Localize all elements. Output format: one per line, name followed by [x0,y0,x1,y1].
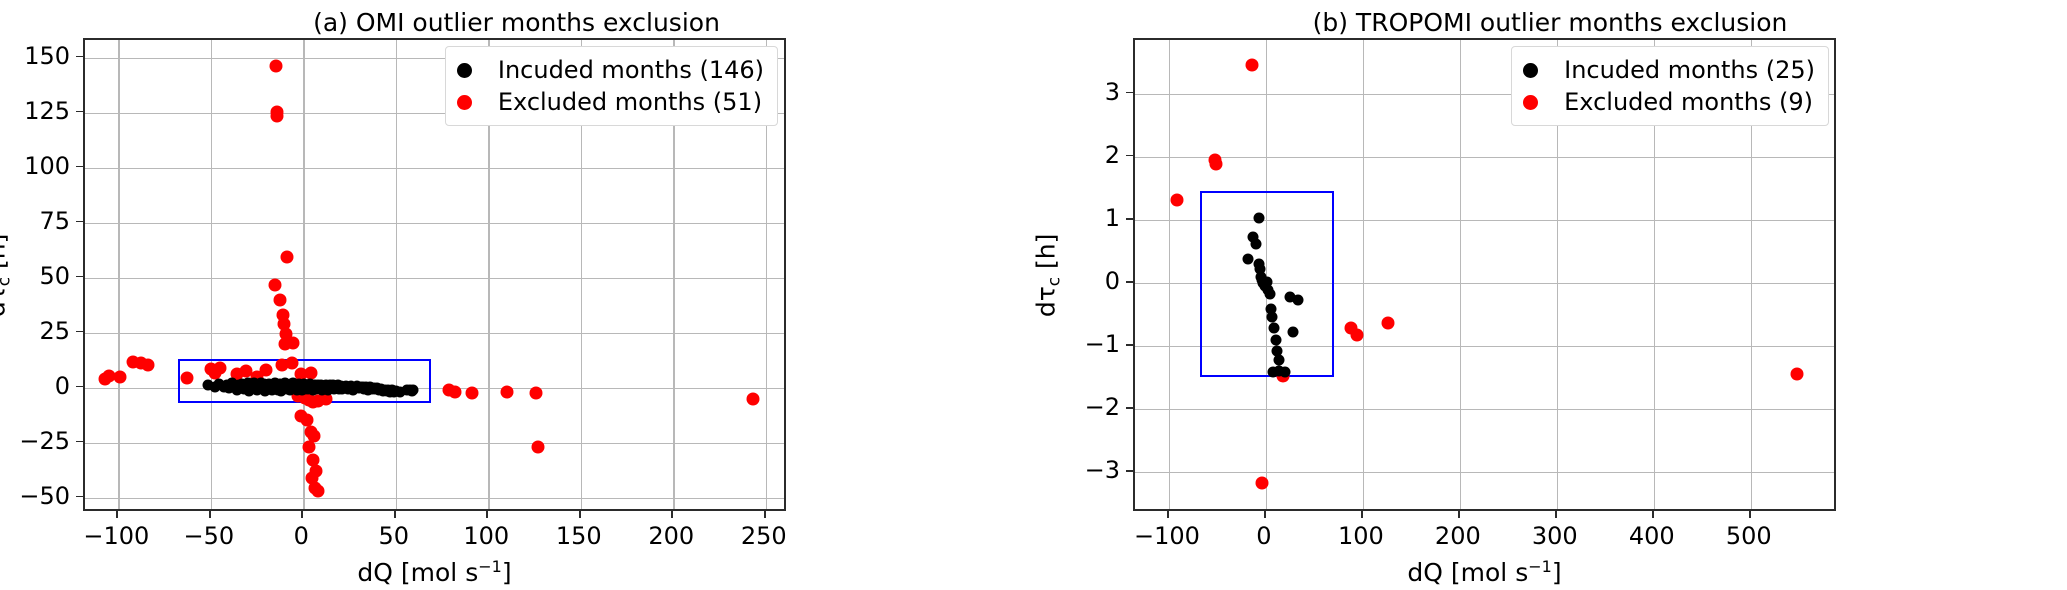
y-tickmark [76,166,83,168]
data-point-excluded [1246,59,1259,72]
legend-label: Excluded months (9) [1564,88,1813,116]
data-point-excluded [1791,368,1804,381]
x-tickmark [1555,511,1557,518]
y-tickmark [76,331,83,333]
y-tick-label: 150 [0,42,70,70]
data-point-excluded [274,293,287,306]
data-point-excluded [500,386,513,399]
x-tickmark [1264,511,1266,518]
data-point-included [1288,326,1299,337]
x-tickmark [209,511,211,518]
data-point-included [1264,289,1275,300]
data-point-excluded [530,387,543,400]
x-tick-label: −100 [1134,522,1200,550]
x-tickmark [394,511,396,518]
x-tick-label: 400 [1629,522,1675,550]
y-tickmark [1126,281,1133,283]
y-tick-label: 3 [1038,78,1120,106]
y-tickmark [1126,92,1133,94]
x-tick-label: 150 [556,522,602,550]
x-tick-label: 250 [741,522,787,550]
data-point-included [1280,367,1291,378]
x-tickmark [579,511,581,518]
gridline-horizontal [85,498,784,499]
panel-a-legend[interactable]: Incuded months (146)Excluded months (51) [445,46,778,126]
x-tick-label: −100 [83,522,149,550]
data-point-excluded [269,60,282,73]
data-point-excluded [268,279,281,292]
legend-row[interactable]: Incuded months (25) [1523,54,1815,86]
x-tick-label: 500 [1726,522,1772,550]
x-tick-label: −50 [183,522,234,550]
y-tick-label: 125 [0,97,70,125]
data-point-included [1292,295,1303,306]
panel-omi: (a) OMI outlier months exclusion −100−50… [0,0,1033,590]
legend-label: Incuded months (25) [1564,56,1815,84]
legend-marker-excluded-icon [457,95,472,110]
x-tick-label: 300 [1532,522,1578,550]
gridline-horizontal [1135,409,1834,410]
data-point-excluded [746,392,759,405]
x-tickmark [116,511,118,518]
data-point-excluded [1382,316,1395,329]
data-point-excluded [449,386,462,399]
y-tick-label: −50 [0,482,70,510]
legend-marker-included-icon [457,63,472,78]
y-tickmark [76,56,83,58]
legend-marker-included-icon [1523,63,1538,78]
y-tickmark [76,111,83,113]
data-point-excluded [465,387,478,400]
x-tick-label: 100 [463,522,509,550]
data-point-excluded [271,109,284,122]
y-tickmark [1126,407,1133,409]
gridline-horizontal [85,278,784,279]
x-tick-label: 0 [1256,522,1271,550]
legend-label: Excluded months (51) [498,88,762,116]
data-point-included [408,385,419,396]
y-tickmark [76,276,83,278]
data-point-excluded [312,485,325,498]
legend-label: Incuded months (146) [498,56,764,84]
panel-b-legend[interactable]: Incuded months (25)Excluded months (9) [1511,46,1829,126]
y-tickmark [1126,344,1133,346]
panel-a-ylabel: dτc [h] [0,185,14,365]
y-tickmark [76,496,83,498]
y-tick-label: −25 [0,427,70,455]
x-tickmark [301,511,303,518]
gridline-horizontal [85,443,784,444]
x-tickmark [671,511,673,518]
data-point-excluded [280,250,293,263]
x-tickmark [1167,511,1169,518]
y-tick-label: 100 [0,152,70,180]
data-point-excluded [260,364,273,377]
panel-a-xlabel: dQ [mol s−1] [83,557,786,587]
gridline-vertical [1363,40,1364,509]
y-tickmark [1126,218,1133,220]
data-point-excluded [180,371,193,384]
panel-a-title: (a) OMI outlier months exclusion [0,8,1033,37]
gridline-vertical [1460,40,1461,509]
data-point-excluded [114,370,127,383]
y-tick-label: 2 [1038,141,1120,169]
gridline-horizontal [85,333,784,334]
data-point-excluded [286,357,299,370]
y-tick-label: 0 [0,372,70,400]
data-point-included [1270,334,1281,345]
x-tickmark [486,511,488,518]
data-point-excluded [301,413,314,426]
data-point-included [1273,354,1284,365]
gridline-vertical [303,40,304,509]
gridline-vertical [211,40,212,509]
panel-b-ylabel: dτc [h] [1032,185,1065,365]
legend-row[interactable]: Excluded months (51) [457,86,764,118]
gridline-horizontal [1135,157,1834,158]
data-point-excluded [302,441,315,454]
figure-root: (a) OMI outlier months exclusion −100−50… [0,0,2067,590]
x-tick-label: 200 [648,522,694,550]
x-tickmark [1458,511,1460,518]
data-point-included [1266,312,1277,323]
x-tickmark [1361,511,1363,518]
x-tick-label: 0 [294,522,309,550]
panel-b-xlabel: dQ [mol s−1] [1133,557,1836,587]
data-point-included [1254,212,1265,223]
data-point-excluded [1256,477,1269,490]
data-point-excluded [287,336,300,349]
data-point-excluded [1210,158,1223,171]
y-tick-label: −3 [1038,456,1120,484]
y-tickmark [76,221,83,223]
gridline-vertical [1169,40,1170,509]
y-tickmark [1126,155,1133,157]
data-point-included [1251,238,1262,249]
gridline-vertical [396,40,397,509]
legend-marker-excluded-icon [1523,95,1538,110]
data-point-included [1268,323,1279,334]
y-tick-label: −2 [1038,393,1120,421]
data-point-excluded [1351,328,1364,341]
panel-b-title: (b) TROPOMI outlier months exclusion [1033,8,2067,37]
gridline-vertical [118,40,119,509]
x-tickmark [1652,511,1654,518]
gridline-horizontal [1135,472,1834,473]
legend-row[interactable]: Incuded months (146) [457,54,764,86]
panel-tropomi: (b) TROPOMI outlier months exclusion −10… [1033,0,2067,590]
data-point-excluded [532,441,545,454]
data-point-excluded [214,361,227,374]
y-tickmark [1126,470,1133,472]
gridline-horizontal [85,223,784,224]
x-tickmark [1749,511,1751,518]
x-tick-label: 50 [379,522,410,550]
legend-row[interactable]: Excluded months (9) [1523,86,1815,118]
data-point-excluded [141,358,154,371]
y-tickmark [76,386,83,388]
gridline-horizontal [85,168,784,169]
data-point-excluded [1170,193,1183,206]
x-tickmark [764,511,766,518]
x-tick-label: 100 [1338,522,1384,550]
x-tick-label: 200 [1435,522,1481,550]
y-tickmark [76,441,83,443]
